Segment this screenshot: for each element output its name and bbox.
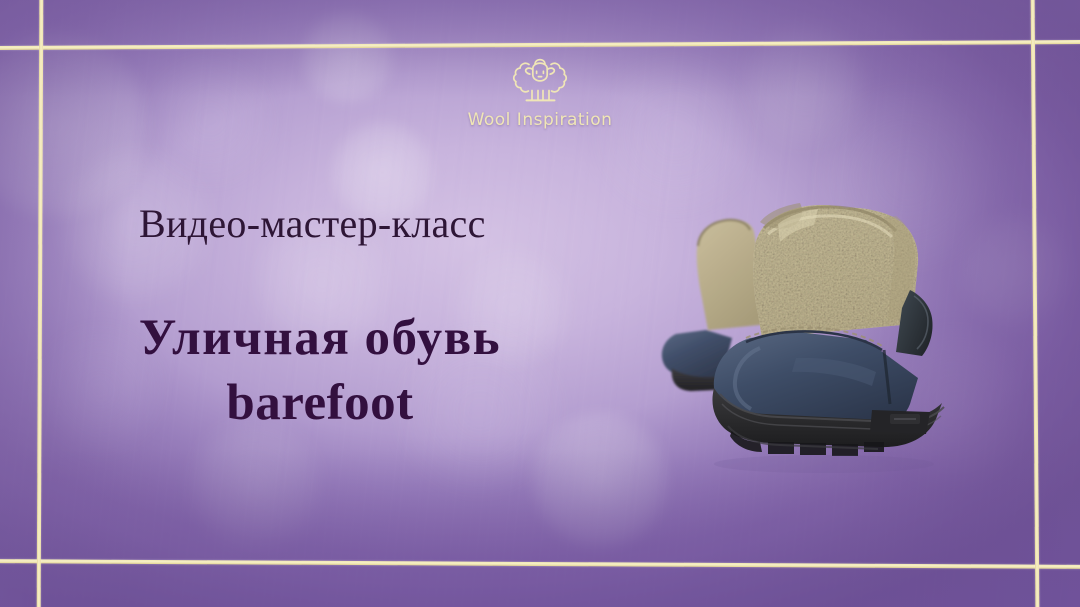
title-line-1: Уличная обувь: [0, 306, 640, 371]
title-line-2: barefoot: [0, 371, 640, 436]
sheep-icon: [509, 52, 571, 108]
title-card: Wool Inspiration Видео-мастер-класс Улич…: [0, 0, 1080, 607]
brand-logo: Wool Inspiration: [0, 52, 1080, 130]
kicker-text: Видео-мастер-класс: [139, 200, 486, 247]
felt-boots-photo: [628, 172, 1008, 482]
page-title: Уличная обувь barefoot: [0, 306, 640, 437]
brand-name: Wool Inspiration: [468, 110, 613, 130]
